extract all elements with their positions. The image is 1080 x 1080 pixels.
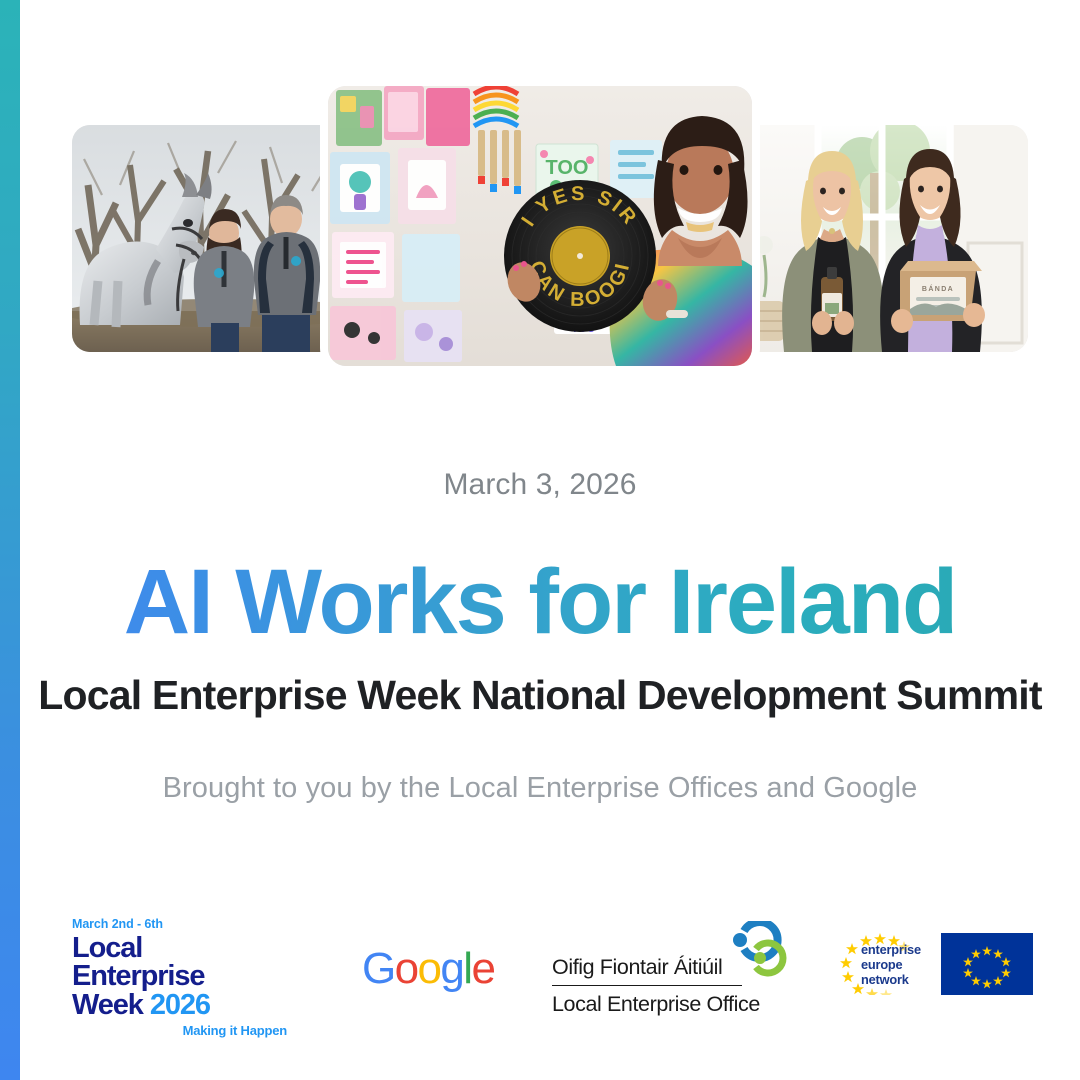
presented-by-text: Brought to you by the Local Enterprise O… <box>0 772 1080 805</box>
lew-line-week: Week <box>72 989 143 1021</box>
lew-tagline: Making it Happen <box>72 1023 287 1038</box>
vinyl-record: I YES SIR I CAN BOOGIE <box>504 180 656 332</box>
een-and-eu-block: enterprise europe network <box>838 933 1033 995</box>
photo-founders-illustration: BÁNDA <box>722 125 1028 352</box>
een-line-europe: europe <box>861 957 921 972</box>
een-line-network: network <box>861 972 921 987</box>
lew-line-enterprise: Enterprise <box>72 962 287 990</box>
european-union-flag <box>941 933 1033 995</box>
google-letter-g2: g <box>440 944 463 993</box>
lew-dates: March 2nd - 6th <box>72 917 287 931</box>
photo-equestrian-illustration <box>72 125 355 352</box>
eu-flag-stars-icon <box>941 933 1033 995</box>
google-letter-e: e <box>471 944 494 993</box>
svg-text:BÁNDA: BÁNDA <box>922 284 954 293</box>
event-subtitle: Local Enterprise Week National Developme… <box>0 672 1080 719</box>
google-letter-o2: o <box>418 944 441 993</box>
photo-equestrian-business-owners <box>72 125 355 352</box>
een-line-enterprise: enterprise <box>861 942 921 957</box>
lew-year: 2026 <box>150 989 210 1021</box>
partner-logo-row: March 2nd - 6th Local Enterprise Week 20… <box>0 905 1080 1045</box>
local-enterprise-week-logo: March 2nd - 6th Local Enterprise Week 20… <box>72 917 287 1038</box>
google-letter-g1: G <box>362 944 395 993</box>
leo-english-name: Local Enterprise Office <box>552 992 782 1017</box>
page-title: AI Works for Ireland <box>0 556 1080 648</box>
photo-skincare-founders: BÁNDA <box>722 125 1028 352</box>
event-date: March 3, 2026 <box>0 468 1080 502</box>
leo-irish-name: Oifig Fiontair Áitiúil <box>552 955 742 986</box>
google-letter-o1: o <box>395 944 418 993</box>
photo-giftshop-illustration: TOO OH YOU WON'T PASS YOU <box>328 86 752 366</box>
photo-collage: TOO OH YOU WON'T PASS YOU <box>0 0 1080 400</box>
enterprise-europe-network-logo: enterprise europe network <box>838 933 933 995</box>
lew-line-local: Local <box>72 934 287 962</box>
photo-giftshop-owner-vinyl: TOO OH YOU WON'T PASS YOU <box>320 78 760 374</box>
local-enterprise-office-logo: Oifig Fiontair Áitiúil Local Enterprise … <box>552 923 782 979</box>
google-logo: Google <box>362 947 494 991</box>
svg-text:TOO: TOO <box>546 157 589 179</box>
